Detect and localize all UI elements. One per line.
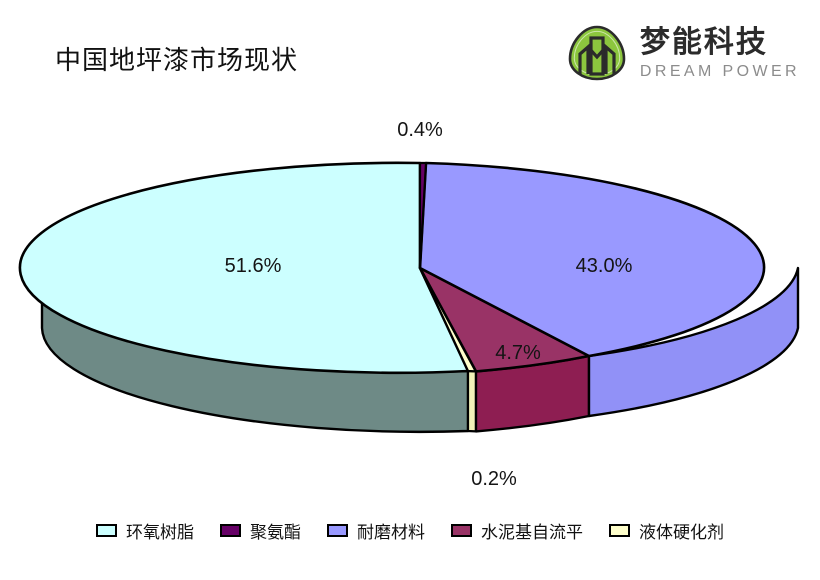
legend-item-epoxy[interactable]: 环氧树脂 <box>96 518 194 543</box>
legend-item-polyurethane[interactable]: 聚氨酯 <box>220 518 301 543</box>
brand-name-cn: 梦能科技 <box>640 28 800 58</box>
legend-label: 聚氨酯 <box>250 518 301 543</box>
pie-top-face <box>20 163 764 373</box>
legend-label: 液体硬化剂 <box>639 518 724 543</box>
brand-text: 梦能科技 DREAM POWER <box>640 28 800 80</box>
legend-item-liquid-hardener[interactable]: 液体硬化剂 <box>609 518 724 543</box>
brand-name-en: DREAM POWER <box>640 64 800 80</box>
pie-label-hardener: 0.2% <box>471 468 517 490</box>
pie-label-epoxy: 51.6% <box>225 255 282 277</box>
legend-swatch-icon <box>451 524 472 537</box>
legend-item-cement-self-leveling[interactable]: 水泥基自流平 <box>451 518 583 543</box>
legend-label: 环氧树脂 <box>126 518 194 543</box>
chart-page: 中国地坪漆市场现状 梦能科技 DREAM POWER <box>0 0 820 580</box>
legend-label: 耐磨材料 <box>357 518 425 543</box>
legend-label: 水泥基自流平 <box>481 518 583 543</box>
legend-item-wear-resistant[interactable]: 耐磨材料 <box>327 518 425 543</box>
pie-label-cement: 4.7% <box>495 342 541 364</box>
legend-swatch-icon <box>96 524 117 537</box>
pie-label-polyurethane: 0.4% <box>397 119 443 141</box>
pie-chart: 0.4% 51.6% 43.0% 4.7% 0.2% <box>0 105 820 500</box>
pie-label-wear: 43.0% <box>576 255 633 277</box>
shield-monogram-icon <box>566 24 628 84</box>
legend-swatch-icon <box>609 524 630 537</box>
pie-chart-svg: 0.4% 51.6% 43.0% 4.7% 0.2% <box>0 105 820 500</box>
legend-swatch-icon <box>327 524 348 537</box>
chart-legend: 环氧树脂 聚氨酯 耐磨材料 水泥基自流平 液体硬化剂 <box>0 518 820 543</box>
page-title: 中国地坪漆市场现状 <box>55 40 298 77</box>
legend-swatch-icon <box>220 524 241 537</box>
brand-logo: 梦能科技 DREAM POWER <box>566 24 800 84</box>
